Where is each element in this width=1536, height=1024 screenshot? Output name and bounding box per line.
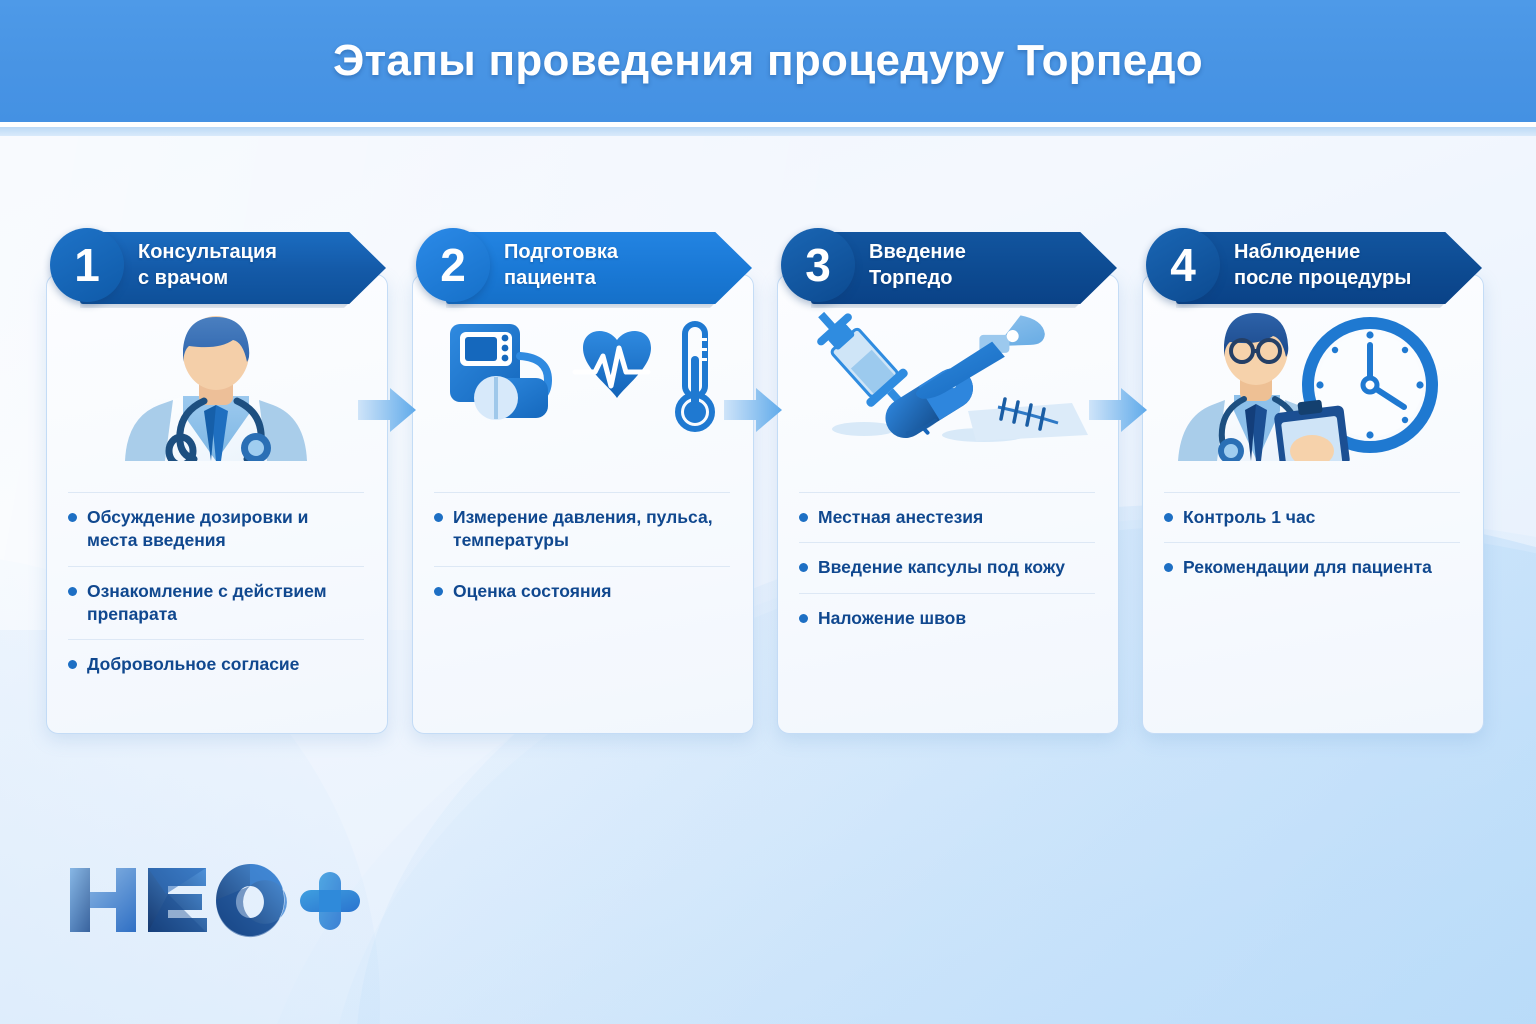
step-1-bullet-list: Обсуждение дозировки и места введения Оз… — [68, 492, 364, 689]
step-2-bullet-list: Измерение давления, пульса, температуры … — [434, 492, 730, 616]
step-3-header: 3 Введение Торпедо — [781, 228, 1117, 306]
brand-logo[interactable] — [64, 862, 364, 938]
arrow-step2-to-step3 — [722, 386, 784, 434]
list-item: Измерение давления, пульса, температуры — [434, 492, 730, 566]
step-title-line1: Введение — [869, 239, 1083, 265]
bullet-text: Местная анестезия — [818, 506, 983, 529]
list-item: Обсуждение дозировки и места введения — [68, 492, 364, 566]
bullet-dot-icon — [68, 513, 77, 522]
syringe-capsule-scalpel-sutures-icon — [802, 311, 1092, 451]
infographic-canvas: Этапы проведения процедуру Торпедо — [0, 0, 1536, 1024]
step-title: Наблюдение после процедуры — [1234, 228, 1448, 302]
neo-plus-logo — [64, 862, 364, 938]
bullet-dot-icon — [799, 614, 808, 623]
step-2-header: 2 Подготовка пациента — [416, 228, 752, 306]
bullet-text: Добровольное согласие — [87, 653, 299, 676]
bullet-dot-icon — [68, 587, 77, 596]
list-item: Контроль 1 час — [1164, 492, 1460, 542]
step-title-line2: пациента — [504, 265, 718, 291]
step-title: Подготовка пациента — [504, 228, 718, 302]
step-number-badge: 3 — [781, 228, 855, 302]
step-number-badge: 2 — [416, 228, 490, 302]
bullet-dot-icon — [68, 660, 77, 669]
bullet-text: Контроль 1 час — [1183, 506, 1315, 529]
step-card-2[interactable]: Измерение давления, пульса, температуры … — [412, 228, 752, 732]
doctor-stethoscope-icon — [111, 301, 321, 461]
list-item: Добровольное согласие — [68, 639, 364, 689]
bullet-text: Рекомендации для пациента — [1183, 556, 1432, 579]
right-arrow-icon — [722, 386, 784, 434]
step-title: Консультация с врачом — [138, 228, 352, 302]
step-title-line2: Торпедо — [869, 265, 1083, 291]
bullet-dot-icon — [434, 587, 443, 596]
step-1-header: 1 Консультация с врачом — [50, 228, 386, 306]
step-title-line1: Наблюдение — [1234, 239, 1448, 265]
bullet-text: Наложение швов — [818, 607, 966, 630]
arrow-step1-to-step2 — [356, 386, 418, 434]
bullet-dot-icon — [799, 513, 808, 522]
bullet-text: Обсуждение дозировки и места введения — [87, 506, 362, 553]
step-title-line1: Консультация — [138, 239, 352, 265]
steps-container: Обсуждение дозировки и места введения Оз… — [0, 228, 1536, 738]
step-number-badge: 1 — [50, 228, 124, 302]
blood-pressure-heart-thermometer-icon — [442, 316, 722, 446]
step-4-header: 4 Наблюдение после процедуры — [1146, 228, 1482, 306]
bullet-text: Введение капсулы под кожу — [818, 556, 1065, 579]
bullet-dot-icon — [434, 513, 443, 522]
step-card-4[interactable]: Контроль 1 час Рекомендации для пациента… — [1142, 228, 1482, 732]
doctor-clipboard-clock-icon — [1172, 301, 1452, 461]
step-4-bullet-list: Контроль 1 час Рекомендации для пациента — [1164, 492, 1460, 593]
list-item: Ознакомление с действием препарата — [68, 566, 364, 640]
arrow-step3-to-step4 — [1087, 386, 1149, 434]
list-item: Рекомендации для пациента — [1164, 542, 1460, 592]
bullet-text: Оценка состояния — [453, 580, 612, 603]
right-arrow-icon — [1087, 386, 1149, 434]
page-title: Этапы проведения процедуру Торпедо — [0, 0, 1536, 122]
bullet-dot-icon — [1164, 513, 1173, 522]
step-number-badge: 4 — [1146, 228, 1220, 302]
step-card-3[interactable]: Местная анестезия Введение капсулы под к… — [777, 228, 1117, 732]
step-title-line2: с врачом — [138, 265, 352, 291]
list-item: Введение капсулы под кожу — [799, 542, 1095, 592]
list-item: Оценка состояния — [434, 566, 730, 616]
list-item: Местная анестезия — [799, 492, 1095, 542]
step-3-bullet-list: Местная анестезия Введение капсулы под к… — [799, 492, 1095, 643]
step-card-1[interactable]: Обсуждение дозировки и места введения Оз… — [46, 228, 386, 732]
bullet-dot-icon — [1164, 563, 1173, 572]
banner-divider-blue — [0, 127, 1536, 136]
right-arrow-icon — [356, 386, 418, 434]
bullet-text: Измерение давления, пульса, температуры — [453, 506, 728, 553]
bullet-dot-icon — [799, 563, 808, 572]
step-title-line2: после процедуры — [1234, 265, 1448, 291]
list-item: Наложение швов — [799, 593, 1095, 643]
step-title-line1: Подготовка — [504, 239, 718, 265]
bullet-text: Ознакомление с действием препарата — [87, 580, 362, 627]
step-title: Введение Торпедо — [869, 228, 1083, 302]
